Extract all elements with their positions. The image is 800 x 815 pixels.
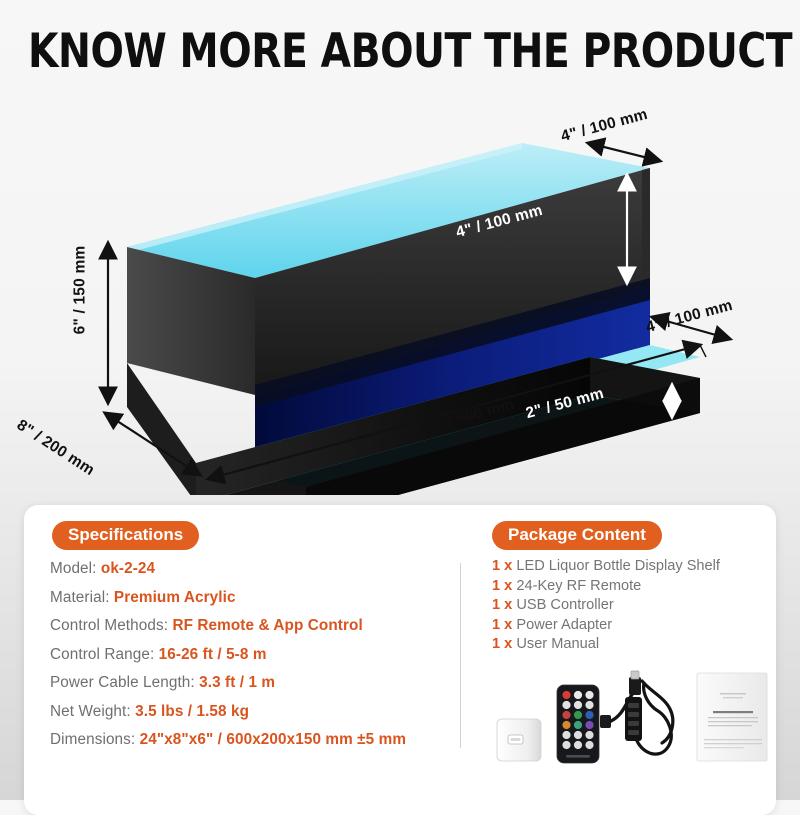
spec-value: Premium Acrylic xyxy=(114,589,236,606)
spec-label: Material: xyxy=(50,589,110,606)
item-name: 24-Key RF Remote xyxy=(516,578,641,594)
page-title: KNOW MORE ABOUT THE PRODUCT xyxy=(28,24,772,79)
spec-row: Dimensions: 24"x8"x6" / 600x200x150 mm ±… xyxy=(50,731,450,749)
spec-row: Net Weight: 3.5 lbs / 1.58 kg xyxy=(50,703,450,721)
callout-total-height: 6" / 150 mm xyxy=(71,246,89,335)
spec-row: Model: ok-2-24 xyxy=(50,560,450,578)
spec-label: Net Weight: xyxy=(50,703,131,720)
spec-label: Control Range: xyxy=(50,646,154,663)
product-diagram: 4" / 100 mm 4" / 100 mm 4" / 100 mm 2" /… xyxy=(0,95,800,495)
spec-row: Material: Premium Acrylic xyxy=(50,589,450,607)
spec-value: ok-2-24 xyxy=(101,560,155,577)
spec-label: Power Cable Length: xyxy=(50,674,195,691)
list-item: 1 x LED Liquor Bottle Display Shelf xyxy=(492,558,782,574)
item-name: USB Controller xyxy=(516,597,613,613)
list-item: 1 x User Manual xyxy=(492,636,782,652)
specifications-list: Model: ok-2-24 Material: Premium Acrylic… xyxy=(50,560,450,760)
list-item: 1 x 24-Key RF Remote xyxy=(492,578,782,594)
accessory-photo xyxy=(492,663,777,768)
usb-controller-icon xyxy=(600,671,673,754)
item-qty: 1 x xyxy=(492,558,512,574)
spec-label: Model: xyxy=(50,560,97,577)
lower-shelf-left-face xyxy=(127,363,196,495)
list-item: 1 x Power Adapter xyxy=(492,617,782,633)
panel-divider xyxy=(460,563,461,748)
spec-value: RF Remote & App Control xyxy=(172,617,362,634)
spec-value: 24"x8"x6" / 600x200x150 mm ±5 mm xyxy=(140,731,406,748)
user-manual-icon xyxy=(697,673,767,761)
specifications-badge: Specifications xyxy=(52,521,199,550)
power-adapter-icon xyxy=(497,719,541,761)
spec-value: 3.3 ft / 1 m xyxy=(199,674,275,691)
item-qty: 1 x xyxy=(492,636,512,652)
item-qty: 1 x xyxy=(492,617,512,633)
item-name: User Manual xyxy=(516,636,599,652)
rf-remote-icon xyxy=(557,685,599,763)
spec-row: Control Methods: RF Remote & App Control xyxy=(50,617,450,635)
spec-label: Dimensions: xyxy=(50,731,135,748)
shelf-illustration xyxy=(0,95,800,495)
spec-label: Control Methods: xyxy=(50,617,168,634)
spec-row: Power Cable Length: 3.3 ft / 1 m xyxy=(50,674,450,692)
item-name: Power Adapter xyxy=(516,617,612,633)
spec-row: Control Range: 16-26 ft / 5-8 m xyxy=(50,646,450,664)
item-qty: 1 x xyxy=(492,578,512,594)
spec-value: 3.5 lbs / 1.58 kg xyxy=(135,703,249,720)
package-content-badge: Package Content xyxy=(492,521,662,550)
item-qty: 1 x xyxy=(492,597,512,613)
item-name: LED Liquor Bottle Display Shelf xyxy=(516,558,720,574)
package-content-list: 1 x LED Liquor Bottle Display Shelf 1 x … xyxy=(492,558,782,656)
spec-value: 16-26 ft / 5-8 m xyxy=(159,646,267,663)
list-item: 1 x USB Controller xyxy=(492,597,782,613)
